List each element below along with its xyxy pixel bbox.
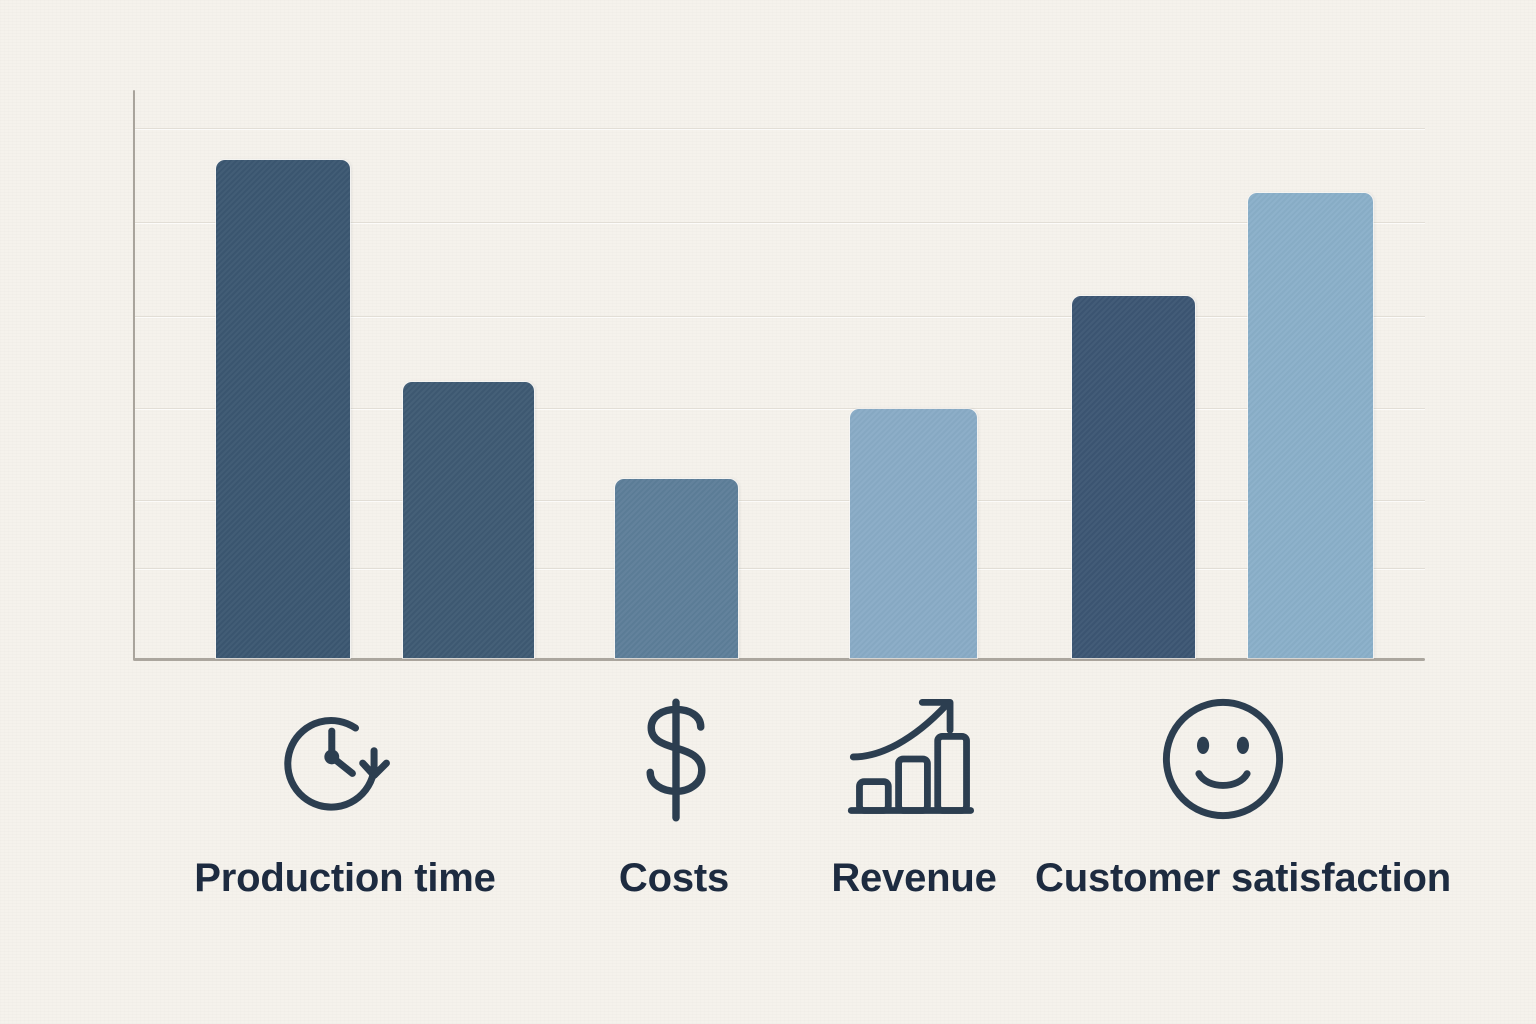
icon-slot-customer-satisfaction xyxy=(1148,694,1298,824)
icon-slot-revenue xyxy=(837,694,989,824)
gridline xyxy=(133,128,1425,129)
bar-customer-satisfaction-2[interactable] xyxy=(1248,193,1373,658)
category-label-production-time: Production time xyxy=(145,856,545,901)
icon-slot-costs xyxy=(614,694,738,826)
category-label-costs: Costs xyxy=(554,856,794,901)
smiley-face-icon xyxy=(1158,694,1288,824)
bar-chart-figure: Production time Costs Revenue Customer s… xyxy=(0,0,1536,1024)
category-label-row: Production time Costs Revenue Customer s… xyxy=(0,856,1536,916)
bar-revenue[interactable] xyxy=(850,409,977,658)
clock-arrow-icon xyxy=(273,694,405,826)
growth-bar-chart-icon xyxy=(843,694,983,824)
bar-production-time-1[interactable] xyxy=(216,160,350,658)
x-axis-line xyxy=(133,658,1425,661)
category-label-customer-satisfaction: Customer satisfaction xyxy=(1033,856,1453,901)
category-icon-row xyxy=(0,694,1536,844)
dollar-sign-icon xyxy=(621,694,731,826)
category-label-revenue: Revenue xyxy=(784,856,1044,901)
icon-slot-production-time xyxy=(263,694,415,826)
plot-area xyxy=(133,90,1425,660)
bar-customer-satisfaction-1[interactable] xyxy=(1072,296,1195,658)
y-axis-line xyxy=(133,90,135,660)
bar-production-time-2[interactable] xyxy=(403,382,534,658)
bar-costs[interactable] xyxy=(615,479,738,658)
